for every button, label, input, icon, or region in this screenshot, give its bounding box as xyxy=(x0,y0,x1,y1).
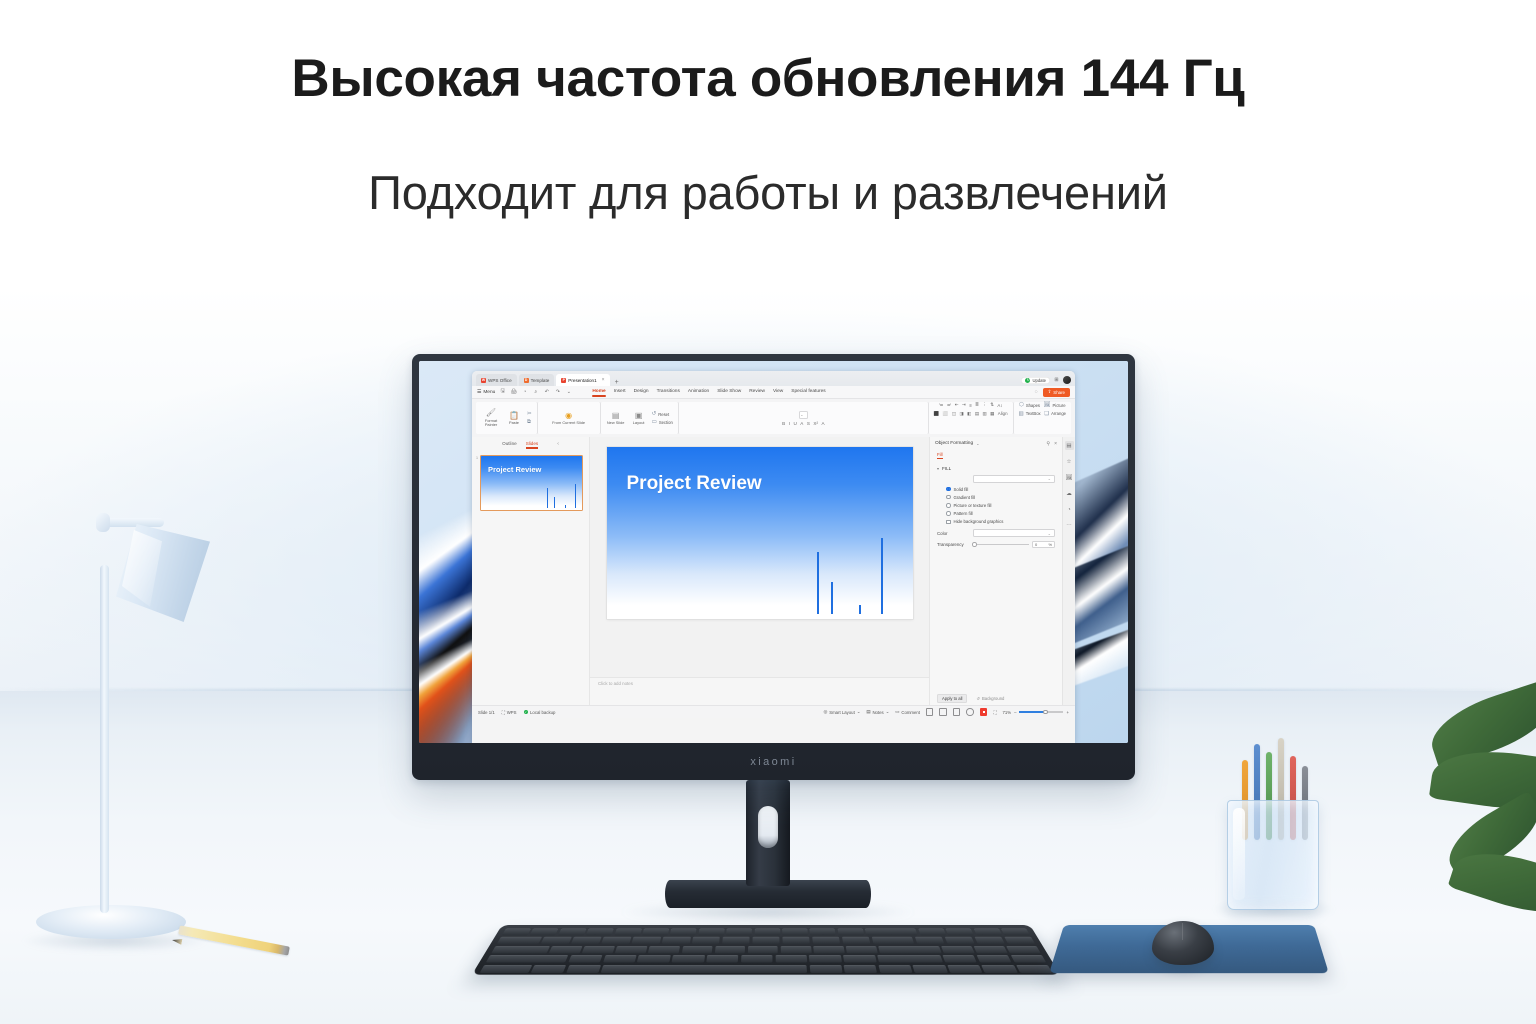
key[interactable] xyxy=(642,929,669,936)
key[interactable] xyxy=(947,965,982,973)
panel-tab-fill[interactable]: Fill xyxy=(937,452,943,457)
notes-label: Notes xyxy=(872,710,883,715)
comment-button[interactable]: ▭ Comment xyxy=(895,709,920,715)
font-family-select[interactable]: ⌄ xyxy=(799,411,807,419)
key[interactable] xyxy=(566,965,601,973)
ribbon-tab-insert[interactable]: Insert xyxy=(614,389,626,396)
monitor: W WPS Office D Template P Presentation1 … xyxy=(412,354,1135,780)
paragraph-row-2: ⬛ ⬜ ◫ ◨ ◧ ▤ ▥ ▦ Align xyxy=(934,411,1008,417)
smart-art-icon[interactable]: ▦ xyxy=(990,411,994,417)
section-button[interactable]: ▭ Section xyxy=(652,419,673,425)
key[interactable] xyxy=(976,955,1011,963)
key[interactable] xyxy=(631,937,660,944)
radio-dot-icon xyxy=(946,487,951,492)
lamp-pole xyxy=(100,565,109,913)
key[interactable] xyxy=(637,955,670,963)
key[interactable] xyxy=(915,937,945,944)
menubar: ☰ Menu 🖫 🖨 ◔ ⌕ ↶ ↷ ⌄ Home Insert Design … xyxy=(472,386,1075,399)
bullets-icon[interactable]: ≔ xyxy=(939,402,943,408)
key[interactable] xyxy=(672,955,705,963)
bar xyxy=(554,497,555,508)
key[interactable] xyxy=(480,965,532,973)
key[interactable] xyxy=(541,937,572,944)
from-current-slide-label: From Current Slide xyxy=(552,421,585,425)
reset-button[interactable]: ↺ Reset xyxy=(652,411,673,417)
update-label: Update xyxy=(1032,378,1046,383)
search-icon[interactable]: ⌕ xyxy=(532,389,539,396)
key[interactable] xyxy=(878,965,912,973)
lamp-joint xyxy=(96,513,110,532)
checkbox-icon xyxy=(946,520,951,525)
chevron-down-icon: ⌄ xyxy=(800,412,803,417)
font-color-button[interactable]: A xyxy=(800,421,803,426)
layout-icon: ▣ xyxy=(635,411,643,420)
slider-knob[interactable] xyxy=(972,542,977,547)
zoom-level-label: 71% xyxy=(1002,710,1011,715)
key[interactable] xyxy=(741,955,773,963)
key[interactable] xyxy=(752,937,780,944)
radio-gradient-fill[interactable]: Gradient fill xyxy=(946,495,1055,500)
comment-icon: ▭ xyxy=(895,709,899,715)
transparency-value: 0 xyxy=(1035,542,1037,547)
statusbar-right: ◎ Smart Layout ⌄ ▤ Notes ⌄ ▭ Comment xyxy=(823,708,1069,716)
key[interactable] xyxy=(530,929,559,936)
key[interactable] xyxy=(1004,937,1035,944)
close-icon[interactable]: × xyxy=(602,377,605,383)
key[interactable] xyxy=(558,929,586,936)
normal-view-icon[interactable] xyxy=(926,708,934,716)
slides-pane: Outline Slides ‹ 1 Project Review xyxy=(472,437,590,705)
checkbox-label: Hide background graphics xyxy=(954,519,1004,524)
key[interactable] xyxy=(781,946,812,953)
split-view-icon[interactable]: ⊞ xyxy=(1053,377,1060,384)
textbox-button[interactable]: ▥ TextBox xyxy=(1019,411,1041,417)
slide-thumbnail-list: 1 Project Review xyxy=(472,450,589,511)
app-tag[interactable]: ⛶ WPS xyxy=(502,710,517,715)
key[interactable] xyxy=(648,946,680,953)
transparency-slider[interactable] xyxy=(972,542,1029,547)
zoom-slider[interactable] xyxy=(1019,711,1063,712)
objects-row-1: ⬡ Shapes 🖼 Picture xyxy=(1019,402,1066,408)
pen-cup-highlight xyxy=(1233,808,1245,900)
ribbon-tab-strip: Home Insert Design Transitions Animation… xyxy=(592,389,825,396)
keyboard-row xyxy=(480,965,1052,973)
tab-template[interactable]: D Template xyxy=(519,374,555,386)
key[interactable] xyxy=(837,929,864,936)
numbering-icon[interactable]: ≕ xyxy=(947,402,951,408)
font-format-buttons: B I U A S X² A xyxy=(782,421,825,426)
ribbon-group-objects: ⬡ Shapes 🖼 Picture ▥ TextBox xyxy=(1014,402,1071,434)
app-tag-label: WPS xyxy=(507,710,517,715)
chevron-down-icon[interactable]: ⌄ xyxy=(565,389,572,396)
bar xyxy=(575,484,576,508)
page-subheadline: Подходит для работы и развлечений xyxy=(0,165,1536,220)
key[interactable] xyxy=(809,955,842,963)
key[interactable] xyxy=(813,946,844,953)
slide-title-text[interactable]: Project Review xyxy=(627,473,762,495)
ribbon-tab-review[interactable]: Review xyxy=(749,389,765,396)
decrease-indent-icon[interactable]: ⇤ xyxy=(955,402,959,408)
key[interactable] xyxy=(754,929,780,936)
transparency-spinner[interactable]: 0 % xyxy=(1032,541,1055,549)
key[interactable] xyxy=(974,946,1008,953)
ribbon-tab-transitions[interactable]: Transitions xyxy=(657,389,680,396)
picture-button[interactable]: 🖼 Picture xyxy=(1044,402,1066,408)
radio-label: Pattern fill xyxy=(954,511,973,516)
image-library-icon[interactable]: 🖼 xyxy=(1065,473,1074,482)
ribbon-tab-slide-show[interactable]: Slide Show xyxy=(717,389,741,396)
shapes-label: Shapes xyxy=(1026,403,1040,408)
notes-icon: ▤ xyxy=(866,709,870,715)
arrange-button[interactable]: ❏ Arrange xyxy=(1044,411,1066,417)
tab-label: Template xyxy=(531,378,550,383)
panel-header-controls: ⚲ × xyxy=(1046,441,1057,447)
key[interactable] xyxy=(878,946,941,953)
key[interactable] xyxy=(973,929,1002,936)
slider-track xyxy=(976,544,1029,545)
key[interactable] xyxy=(715,946,746,953)
align-top-icon[interactable]: ◫ xyxy=(952,411,956,417)
underline-button[interactable]: U xyxy=(793,421,796,426)
key[interactable] xyxy=(531,965,567,973)
keyboard[interactable] xyxy=(472,925,1060,975)
key[interactable] xyxy=(568,955,603,963)
key[interactable] xyxy=(726,929,752,936)
color-select[interactable]: ⌄ xyxy=(973,529,1055,537)
tab-wps-office[interactable]: W WPS Office xyxy=(476,374,517,386)
checkbox-hide-background-graphics[interactable]: Hide background graphics xyxy=(946,519,1055,524)
share-button[interactable]: ⇪ Share xyxy=(1043,388,1070,397)
reset-icon: ↺ xyxy=(976,696,980,701)
italic-button[interactable]: I xyxy=(789,421,790,426)
tab-presentation1[interactable]: P Presentation1 × xyxy=(556,374,609,386)
new-tab-button[interactable]: + xyxy=(612,379,622,386)
chevron-right-icon: ▾ xyxy=(937,466,939,471)
redo-icon[interactable]: ↷ xyxy=(554,389,561,396)
notes-button[interactable]: ▤ Notes ⌄ xyxy=(866,709,889,715)
key[interactable] xyxy=(571,937,601,944)
color-label: Color xyxy=(937,531,969,536)
key[interactable] xyxy=(941,946,974,953)
slide-count: Slide 1/1 xyxy=(478,710,495,715)
superscript-button[interactable]: X² xyxy=(813,421,818,426)
local-backup-status[interactable]: ✓ Local backup xyxy=(524,710,556,715)
align-middle-icon[interactable]: ◨ xyxy=(960,411,964,417)
fill-section-label: FILL xyxy=(942,466,951,471)
key[interactable] xyxy=(782,937,810,944)
ribbon-group-clipboard: 🖌 Format Painter 📋 Paste ✂ ⧉ xyxy=(476,402,538,434)
key[interactable] xyxy=(748,946,779,953)
section-icon: ▭ xyxy=(652,419,657,425)
picture-icon: 🖼 xyxy=(1044,402,1051,408)
slide-canvas[interactable]: Project Review Click to add notes xyxy=(590,437,929,705)
key[interactable] xyxy=(913,965,948,973)
wps-small-icon: ⛶ xyxy=(502,710,505,715)
monitor-cable-cutout xyxy=(758,806,778,848)
key[interactable] xyxy=(681,946,712,953)
comment-label: Comment xyxy=(901,710,920,715)
share-icon: ⇪ xyxy=(1048,389,1052,395)
align-right-icon[interactable]: ⋮ xyxy=(982,402,986,408)
key[interactable] xyxy=(698,929,724,936)
shapes-button[interactable]: ⬡ Shapes xyxy=(1019,402,1040,408)
key[interactable] xyxy=(586,929,614,936)
notes-placeholder[interactable]: Click to add notes xyxy=(590,677,929,705)
key[interactable] xyxy=(810,929,836,936)
template-icon: D xyxy=(524,378,529,383)
avatar[interactable] xyxy=(1063,376,1071,384)
text-direction-icon[interactable]: A↕ xyxy=(997,403,1002,408)
key[interactable] xyxy=(722,937,750,944)
chevron-down-icon[interactable]: ⌄ xyxy=(976,441,979,446)
align-center-icon[interactable]: ≣ xyxy=(975,402,979,408)
transparency-row: Transparency 0 % xyxy=(937,541,1055,549)
text-fill-icon[interactable]: ⬜ xyxy=(943,411,948,417)
key[interactable] xyxy=(497,937,542,944)
align-bottom-icon[interactable]: ◧ xyxy=(967,411,971,417)
scissors-icon[interactable]: ✂ xyxy=(527,411,532,417)
reading-view-icon[interactable] xyxy=(953,708,961,716)
brand-logo: xiaomi xyxy=(750,756,796,768)
key[interactable] xyxy=(809,965,842,973)
format-painter-button[interactable]: 🖌 Format Painter xyxy=(481,408,501,427)
objects-row-2: ▥ TextBox ❏ Arrange xyxy=(1019,411,1066,417)
key[interactable] xyxy=(812,937,840,944)
key[interactable] xyxy=(846,946,878,953)
ribbon-tab-design[interactable]: Design xyxy=(634,389,649,396)
ribbon-tab-animation[interactable]: Animation xyxy=(688,389,709,396)
ribbon-right-controls: ◌ ⇪ Share xyxy=(1033,388,1070,397)
key[interactable] xyxy=(843,955,876,963)
clock-icon[interactable]: ◔ xyxy=(1065,505,1074,514)
right-icon-rail: ▤ ☆ 🖼 ☁ ◔ ⋯ xyxy=(1062,437,1075,705)
align-left-icon[interactable]: ≡ xyxy=(969,403,972,408)
key[interactable] xyxy=(871,937,914,944)
thumbnail-title: Project Review xyxy=(488,465,541,474)
window-titlebar: W WPS Office D Template P Presentation1 … xyxy=(472,371,1075,386)
bar xyxy=(565,505,566,508)
undo-icon[interactable]: ↶ xyxy=(543,389,550,396)
strikethrough-button[interactable]: S xyxy=(807,421,810,426)
bold-button[interactable]: B xyxy=(782,421,785,426)
more-icon[interactable]: ⋯ xyxy=(1065,521,1074,530)
zoom-in-button[interactable]: + xyxy=(1066,710,1069,715)
share-label: Share xyxy=(1053,390,1065,395)
key[interactable] xyxy=(486,955,569,963)
bar xyxy=(817,552,819,614)
new-slide-button[interactable]: ▤ New Slide xyxy=(606,411,626,426)
distribute-h-icon[interactable]: ▤ xyxy=(975,411,979,417)
key[interactable] xyxy=(782,929,808,936)
key[interactable] xyxy=(615,946,647,953)
fullscreen-icon[interactable]: ⛶ xyxy=(993,710,996,715)
key[interactable] xyxy=(692,937,720,944)
radio-dot-icon xyxy=(946,511,951,516)
close-icon[interactable]: × xyxy=(1054,441,1057,447)
clipboard-small-buttons: ✂ ⧉ xyxy=(527,411,532,426)
paste-button[interactable]: 📋 Paste xyxy=(504,411,524,426)
zoom-out-button[interactable]: – xyxy=(1014,710,1016,715)
page-headline: Высокая частота обновления 144 Гц xyxy=(0,48,1536,109)
panel-body: ▾ FILL ⌄ Solid fill xyxy=(930,461,1062,692)
panel-title: Object Formatting xyxy=(935,441,973,446)
copy-icon[interactable]: ⧉ xyxy=(527,419,532,426)
lamp-head xyxy=(116,524,210,622)
key[interactable] xyxy=(842,937,871,944)
keyboard-row xyxy=(502,929,1030,936)
monitor-bottom-bezel: xiaomi xyxy=(412,744,1135,780)
smart-layout-label: Smart Layout xyxy=(829,710,855,715)
format-panel-icon[interactable]: ▤ xyxy=(1065,441,1074,450)
zoom-slider-fill xyxy=(1019,711,1045,712)
pin-icon[interactable]: ⚲ xyxy=(1046,441,1050,447)
bar xyxy=(547,488,548,508)
product-photo-scene: Высокая частота обновления 144 Гц Подход… xyxy=(0,0,1536,1024)
cloud-icon[interactable]: ☁ xyxy=(1065,489,1074,498)
object-formatting-panel: Object Formatting ⌄ ⚲ × Fill xyxy=(929,437,1062,705)
key[interactable] xyxy=(946,929,974,936)
textbox-icon: ▥ xyxy=(1019,411,1024,417)
help-icon[interactable]: ◌ xyxy=(1033,389,1040,396)
plant xyxy=(1386,690,1536,960)
smart-layout-button[interactable]: ◎ Smart Layout ⌄ xyxy=(823,709,860,715)
spacebar[interactable] xyxy=(601,965,808,973)
lamp-base xyxy=(36,905,186,939)
key[interactable] xyxy=(670,929,697,936)
slide-thumbnail-1[interactable]: Project Review xyxy=(480,455,583,511)
tab-label: Presentation1 xyxy=(568,378,596,383)
panel-header: Object Formatting ⌄ ⚲ × xyxy=(930,437,1062,450)
distribute-v-icon[interactable]: ▥ xyxy=(982,411,986,417)
monitor-screen: W WPS Office D Template P Presentation1 … xyxy=(419,361,1128,743)
key[interactable] xyxy=(877,955,943,963)
key[interactable] xyxy=(844,965,878,973)
radio-pattern-fill[interactable]: Pattern fill xyxy=(946,511,1055,516)
ribbon-group-paragraph: ≔ ≕ ⇤ ⇥ ≡ ≣ ⋮ ⇅ A↕ ⬛ ⬜ xyxy=(929,402,1014,434)
transparency-label: Transparency xyxy=(937,542,969,547)
key[interactable] xyxy=(549,946,582,953)
print-icon[interactable]: 🖨 xyxy=(510,389,517,396)
save-icon[interactable]: 🖫 xyxy=(499,389,506,396)
record-icon[interactable] xyxy=(980,708,988,716)
paintbrush-icon: 🖌 xyxy=(486,408,496,417)
key[interactable] xyxy=(944,937,974,944)
line-spacing-icon[interactable]: ⇅ xyxy=(990,402,994,408)
new-slide-label: New Slide xyxy=(607,421,625,425)
ribbon-tab-special-features[interactable]: Special features xyxy=(791,389,825,396)
mouse-button-split xyxy=(1182,923,1183,940)
clipboard-icon: 📋 xyxy=(509,411,519,420)
ribbon-group-slideshow: ◉ From Current Slide xyxy=(538,402,601,434)
ribbon-group-font: ⌄ B I U A S X² A xyxy=(679,402,929,434)
history-icon[interactable]: ◔ xyxy=(521,389,528,396)
keyboard-row xyxy=(497,937,1036,944)
columns-icon[interactable]: ⬛ xyxy=(934,411,939,417)
menu-label: Menu xyxy=(483,390,495,395)
apply-to-all-button[interactable]: Apply to all xyxy=(937,694,967,703)
key[interactable] xyxy=(614,929,642,936)
increase-indent-icon[interactable]: ⇥ xyxy=(962,402,966,408)
slides-pane-tabs: Outline Slides ‹ xyxy=(472,437,589,450)
panel-footer: Apply to all ↺ Background xyxy=(930,692,1062,705)
align-menu-label[interactable]: Align xyxy=(998,411,1008,416)
ribbon-tab-view[interactable]: View xyxy=(773,389,783,396)
wps-presentation-window: W WPS Office D Template P Presentation1 … xyxy=(472,371,1075,743)
fill-type-select[interactable]: ⌄ xyxy=(973,475,1055,483)
reset-icon: ↺ xyxy=(652,411,657,417)
slide-sorter-icon[interactable] xyxy=(939,708,947,716)
from-current-slide-button[interactable]: ◉ From Current Slide xyxy=(543,411,595,426)
panel-subtabs: Fill xyxy=(930,450,1062,461)
paste-label: Paste xyxy=(509,421,519,425)
chevron-down-icon: ⌄ xyxy=(886,709,890,715)
reset-background-label: Background xyxy=(982,696,1004,701)
thumbnail-number: 1 xyxy=(476,455,478,511)
key[interactable] xyxy=(1010,955,1046,963)
sync-icon: ↻ xyxy=(1025,378,1030,383)
thumbnail-bar-chart xyxy=(543,490,579,508)
keyboard-row xyxy=(491,946,1040,953)
radio-picture-fill[interactable]: Picture or texture fill xyxy=(946,503,1055,508)
key[interactable] xyxy=(1001,929,1030,936)
tab-outline[interactable]: Outline xyxy=(502,441,517,446)
key[interactable] xyxy=(865,929,918,936)
key[interactable] xyxy=(981,965,1017,973)
ribbon-group-slides: ▤ New Slide ▣ Layout ↺ Reset xyxy=(601,402,679,434)
key[interactable] xyxy=(491,946,549,953)
color-row: Color ⌄ xyxy=(937,529,1055,537)
new-slide-icon: ▤ xyxy=(612,411,620,420)
menu-button[interactable]: ☰ Menu xyxy=(477,390,495,395)
slide-bar-chart[interactable] xyxy=(807,547,905,614)
key[interactable] xyxy=(502,929,531,936)
tab-slides[interactable]: Slides xyxy=(526,441,539,446)
key[interactable] xyxy=(662,937,691,944)
update-button[interactable]: ↻ Update xyxy=(1021,377,1050,384)
slide-editor[interactable]: Project Review xyxy=(607,447,913,619)
key[interactable] xyxy=(974,937,1005,944)
ribbon-tab-home[interactable]: Home xyxy=(592,389,605,396)
layout-button[interactable]: ▣ Layout xyxy=(629,411,649,426)
fill-section-header[interactable]: ▾ FILL xyxy=(937,466,1055,471)
key[interactable] xyxy=(603,955,637,963)
key[interactable] xyxy=(942,955,977,963)
presenter-view-icon[interactable] xyxy=(966,708,974,716)
statusbar: Slide 1/1 ⛶ WPS ✓ Local backup ◎ Smart L… xyxy=(472,705,1075,718)
key[interactable] xyxy=(706,955,738,963)
transparency-unit: % xyxy=(1048,542,1052,547)
radio-label: Gradient fill xyxy=(954,495,976,500)
star-icon[interactable]: ☆ xyxy=(1065,457,1074,466)
radio-label: Picture or texture fill xyxy=(954,503,992,508)
key[interactable] xyxy=(601,937,631,944)
key[interactable] xyxy=(1016,965,1052,973)
key[interactable] xyxy=(582,946,615,953)
paragraph-row-1: ≔ ≕ ⇤ ⇥ ≡ ≣ ⋮ ⇅ A↕ xyxy=(939,402,1003,408)
shapes-icon: ⬡ xyxy=(1019,402,1024,408)
chevron-left-icon[interactable]: ‹ xyxy=(557,441,559,447)
play-circle-icon: ◉ xyxy=(565,411,572,420)
reset-background-button[interactable]: ↺ Background xyxy=(971,694,1009,703)
key[interactable] xyxy=(1006,946,1040,953)
radio-solid-fill[interactable]: Solid fill xyxy=(946,487,1055,492)
key[interactable] xyxy=(918,929,946,936)
radio-label: Solid fill xyxy=(954,487,969,492)
key[interactable] xyxy=(775,955,807,963)
zoom-slider-knob[interactable] xyxy=(1043,710,1047,714)
text-effects-button[interactable]: A xyxy=(822,421,825,426)
picture-label: Picture xyxy=(1053,403,1066,408)
